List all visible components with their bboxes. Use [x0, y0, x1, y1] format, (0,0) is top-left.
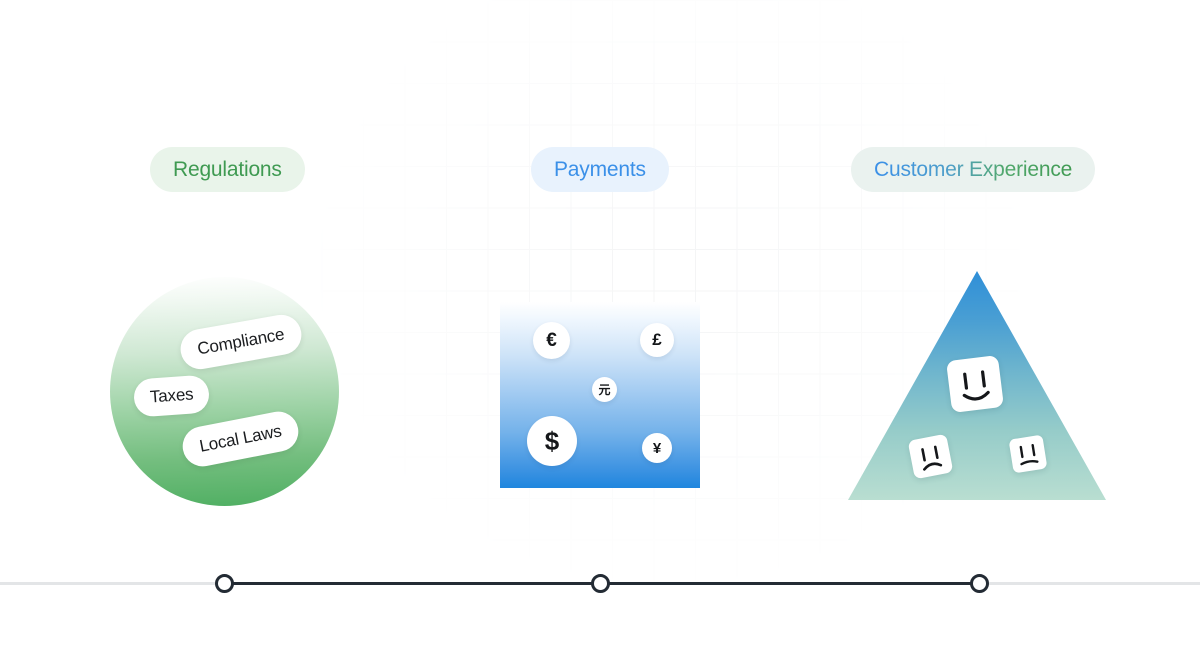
category-chip-regulations[interactable]: Regulations: [150, 147, 305, 192]
regulations-tag-taxes[interactable]: Taxes: [133, 374, 211, 417]
category-chip-payments-label: Payments: [554, 158, 646, 182]
regulations-tag-local-laws-label: Local Laws: [198, 421, 283, 456]
timeline-dot-payments[interactable]: [591, 574, 610, 593]
yuan-renminbi-symbol-icon: 元: [592, 377, 617, 402]
pound-symbol-glyph: £: [652, 330, 661, 350]
dollar-symbol-glyph: $: [545, 426, 559, 457]
euro-symbol-glyph: €: [546, 330, 557, 352]
yen-symbol-icon: ¥: [642, 433, 672, 463]
timeline[interactable]: [0, 582, 1200, 586]
infographic-canvas: Regulations Payments Customer Experience…: [0, 0, 1200, 664]
neutral-face-icon: [1009, 435, 1048, 474]
euro-symbol-icon: €: [533, 322, 570, 359]
yen-symbol-glyph: ¥: [653, 440, 661, 457]
timeline-dot-regulations[interactable]: [215, 574, 234, 593]
yuan-renminbi-symbol-glyph: 元: [598, 381, 610, 398]
regulations-tag-taxes-label: Taxes: [149, 385, 194, 408]
regulations-tag-compliance-label: Compliance: [196, 325, 286, 360]
dollar-symbol-icon: $: [527, 416, 577, 466]
happy-face-icon: [946, 355, 1004, 413]
category-chip-customer-experience[interactable]: Customer Experience: [851, 147, 1095, 192]
timeline-dot-customer-experience[interactable]: [970, 574, 989, 593]
category-chip-regulations-label: Regulations: [173, 158, 282, 182]
pound-symbol-icon: £: [640, 323, 674, 357]
category-chip-customer-experience-label: Customer Experience: [874, 158, 1072, 182]
sad-face-icon: [908, 434, 954, 480]
category-chip-payments[interactable]: Payments: [531, 147, 669, 192]
